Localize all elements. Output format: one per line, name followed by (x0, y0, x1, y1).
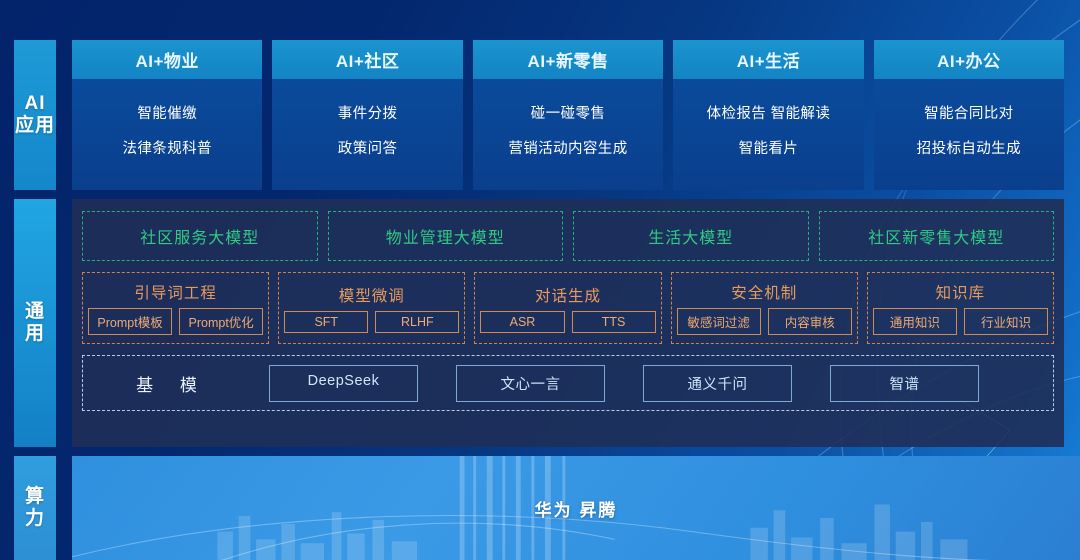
capability-title: 引导词工程 (134, 281, 217, 303)
capability-sub-list: 敏感词过滤 内容审核 (677, 308, 852, 335)
capability-sub-list: Prompt模板 Prompt优化 (88, 308, 263, 335)
application-item: 智能合同比对 (924, 102, 1013, 123)
capability-security-mechanism[interactable]: 安全机制 敏感词过滤 内容审核 (671, 272, 858, 344)
capability-prompt-engineering[interactable]: 引导词工程 Prompt模板 Prompt优化 (82, 272, 269, 344)
capability-sub[interactable]: Prompt模板 (88, 308, 172, 335)
application-card-items: 事件分拨 政策问答 (272, 79, 462, 190)
layer-label-compute: 算 力 (14, 456, 56, 560)
application-card-life[interactable]: AI+生活 体检报告 智能解读 智能看片 (673, 40, 863, 190)
application-item: 智能催缴 (137, 102, 197, 123)
capability-sub[interactable]: 内容审核 (768, 308, 852, 335)
rail-line-1: AI (15, 93, 55, 115)
layer-label-ai-application: AI 应用 (14, 40, 56, 190)
rail-line-2: 力 (25, 508, 45, 530)
compute-bar: 华为 昇腾 (72, 456, 1080, 560)
layer-ai-application: AI 应用 AI+物业 智能催缴 法律条规科普 AI+社区 事件分拨 政策问答 (0, 40, 1080, 190)
base-model-label: 基 模 (97, 371, 247, 396)
base-model-qwen[interactable]: 通义千问 (643, 365, 792, 402)
architecture-diagram: AI 应用 AI+物业 智能催缴 法律条规科普 AI+社区 事件分拨 政策问答 (0, 0, 1080, 560)
application-card-title: AI+办公 (874, 40, 1064, 79)
capability-sub[interactable]: TTS (572, 311, 656, 333)
base-model-deepseek[interactable]: DeepSeek (269, 365, 418, 402)
general-capability-panel: 社区服务大模型 物业管理大模型 生活大模型 社区新零售大模型 引导词工程 Pro… (72, 199, 1064, 447)
application-item: 事件分拨 (338, 102, 398, 123)
application-item: 碰一碰零售 (531, 102, 606, 123)
capability-title: 模型微调 (339, 284, 405, 306)
capability-title: 安全机制 (731, 281, 797, 303)
application-card-new-retail[interactable]: AI+新零售 碰一碰零售 营销活动内容生成 (473, 40, 663, 190)
application-card-title: AI+物业 (72, 40, 262, 79)
rail-line-1: 算 (25, 486, 45, 508)
big-model-community-service[interactable]: 社区服务大模型 (82, 211, 318, 261)
capability-row: 引导词工程 Prompt模板 Prompt优化 模型微调 SFT RLHF 对话… (82, 272, 1054, 344)
application-card-list: AI+物业 智能催缴 法律条规科普 AI+社区 事件分拨 政策问答 AI+新零售… (72, 40, 1064, 190)
capability-sub[interactable]: 敏感词过滤 (677, 308, 761, 335)
capability-dialogue-generation[interactable]: 对话生成 ASR TTS (474, 272, 661, 344)
application-card-items: 碰一碰零售 营销活动内容生成 (473, 79, 663, 190)
base-model-list: DeepSeek 文心一言 通义千问 智谱 (269, 365, 1039, 402)
base-model-row: 基 模 DeepSeek 文心一言 通义千问 智谱 (82, 355, 1054, 411)
capability-knowledge-base[interactable]: 知识库 通用知识 行业知识 (867, 272, 1054, 344)
capability-sub[interactable]: RLHF (375, 311, 459, 333)
application-card-office[interactable]: AI+办公 智能合同比对 招投标自动生成 (874, 40, 1064, 190)
application-card-title: AI+生活 (673, 40, 863, 79)
application-item: 法律条规科普 (123, 137, 212, 158)
capability-sub[interactable]: 行业知识 (964, 308, 1048, 335)
rail-line-2: 应用 (15, 115, 55, 137)
application-item: 招投标自动生成 (917, 137, 1021, 158)
big-model-life[interactable]: 生活大模型 (573, 211, 809, 261)
capability-model-fine-tuning[interactable]: 模型微调 SFT RLHF (278, 272, 465, 344)
capability-sub[interactable]: Prompt优化 (179, 308, 263, 335)
application-item: 营销活动内容生成 (508, 137, 627, 158)
big-model-community-new-retail[interactable]: 社区新零售大模型 (819, 211, 1055, 261)
big-model-property-management[interactable]: 物业管理大模型 (328, 211, 564, 261)
application-card-title: AI+社区 (272, 40, 462, 79)
capability-title: 对话生成 (535, 284, 601, 306)
capability-sub-list: 通用知识 行业知识 (873, 308, 1048, 335)
application-card-items: 智能合同比对 招投标自动生成 (874, 79, 1064, 190)
capability-title: 知识库 (936, 281, 986, 303)
application-card-items: 智能催缴 法律条规科普 (72, 79, 262, 190)
capability-sub-list: ASR TTS (480, 311, 655, 333)
application-card-title: AI+新零售 (473, 40, 663, 79)
application-item: 体检报告 智能解读 (707, 102, 831, 123)
application-card-property[interactable]: AI+物业 智能催缴 法律条规科普 (72, 40, 262, 190)
base-model-ernie[interactable]: 文心一言 (456, 365, 605, 402)
layer-compute: 算 力 (0, 456, 1080, 560)
base-model-zhipu[interactable]: 智谱 (830, 365, 979, 402)
rail-line-1: 通 (25, 301, 45, 323)
application-item: 智能看片 (739, 137, 799, 158)
compute-provider-label: 华为 昇腾 (535, 496, 618, 521)
capability-sub[interactable]: ASR (480, 311, 564, 333)
application-item: 政策问答 (338, 137, 398, 158)
layer-general-capability: 通 用 社区服务大模型 物业管理大模型 生活大模型 社区新零售大模型 引导词工程… (0, 199, 1080, 447)
application-card-items: 体检报告 智能解读 智能看片 (673, 79, 863, 190)
capability-sub[interactable]: SFT (284, 311, 368, 333)
capability-sub-list: SFT RLHF (284, 311, 459, 333)
big-model-row: 社区服务大模型 物业管理大模型 生活大模型 社区新零售大模型 (82, 211, 1054, 261)
application-card-community[interactable]: AI+社区 事件分拨 政策问答 (272, 40, 462, 190)
layer-label-general: 通 用 (14, 199, 56, 447)
capability-sub[interactable]: 通用知识 (873, 308, 957, 335)
rail-line-2: 用 (25, 323, 45, 345)
